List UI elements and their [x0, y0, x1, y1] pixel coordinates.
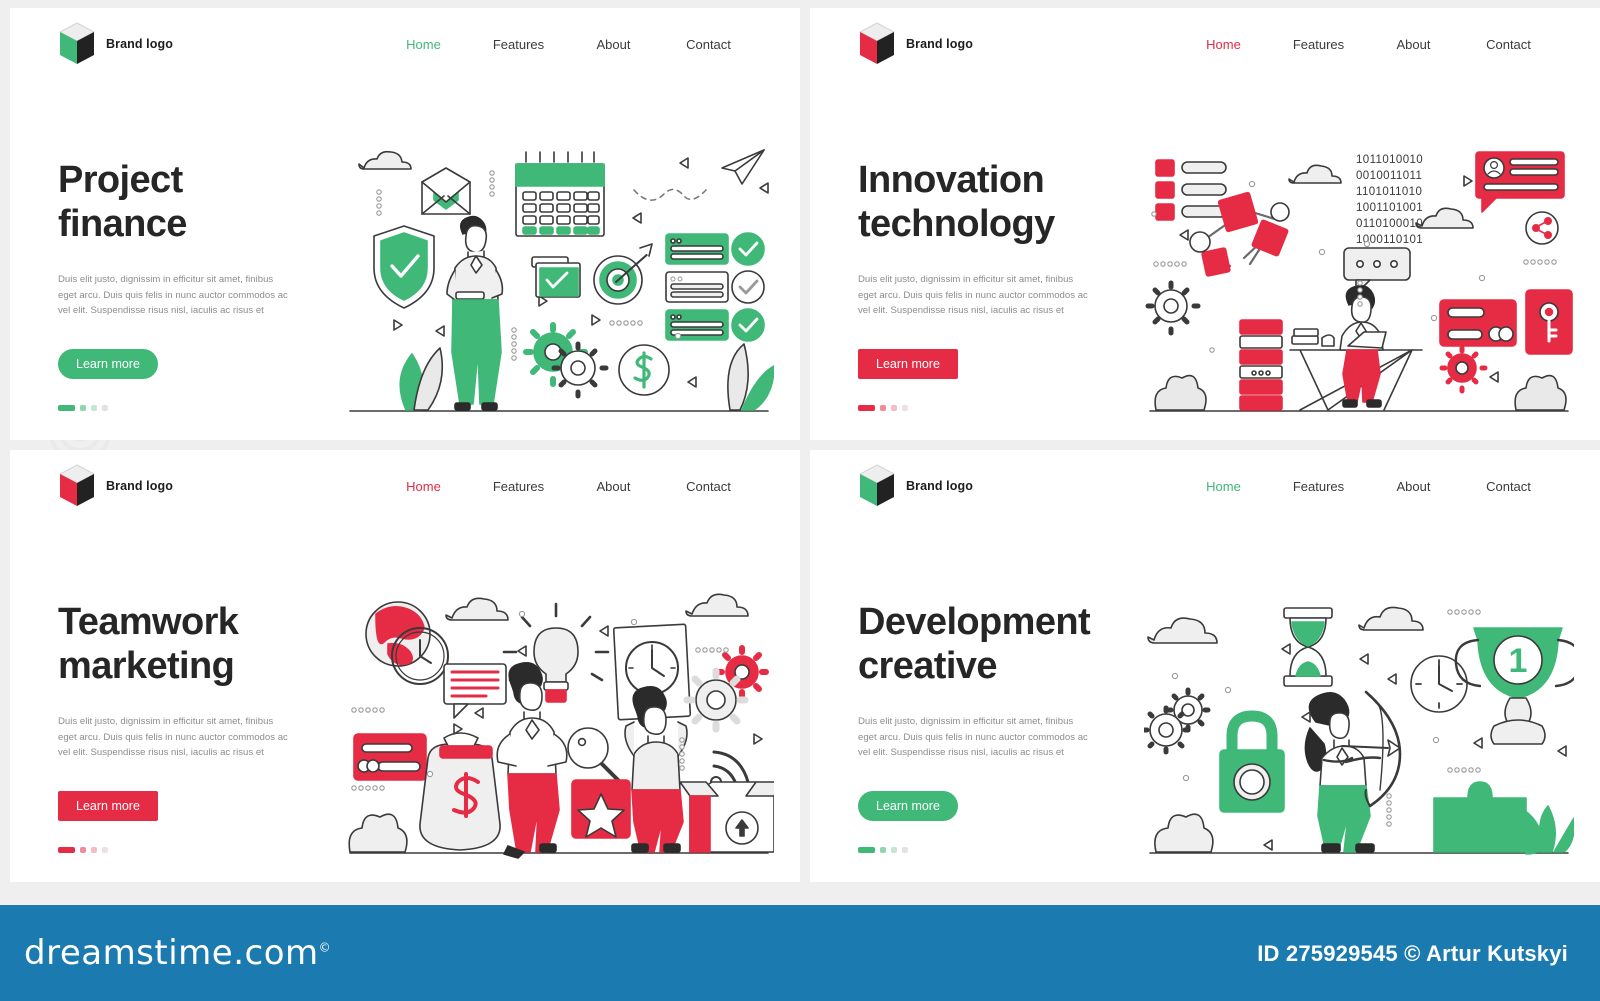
carousel-dot-3[interactable]: [891, 847, 897, 853]
brand-name: Brand logo: [106, 37, 173, 51]
brand[interactable]: Brand logo: [858, 22, 973, 66]
nav-item-contact[interactable]: Contact: [661, 37, 756, 52]
brand-name: Brand logo: [906, 479, 973, 493]
hero-copy: Project finance Duis elit justo, digniss…: [58, 158, 348, 411]
screenshot-stage: Brand logo Home Features About Contact P…: [0, 0, 1600, 1001]
nav-links: Home Features About Contact: [376, 37, 756, 52]
nav-item-home[interactable]: Home: [376, 479, 471, 494]
teamwork-marketing-illustration: [344, 582, 774, 860]
registered-mark: ©: [319, 941, 332, 955]
innovation-technology-illustration: 1011010010 0010011011 1101011010 1001101…: [1144, 140, 1574, 418]
nav-item-home[interactable]: Home: [376, 37, 471, 52]
nav-item-contact[interactable]: Contact: [1461, 37, 1556, 52]
nav-item-home[interactable]: Home: [1176, 37, 1271, 52]
development-creative-illustration: 1: [1144, 582, 1574, 860]
hero-copy: Innovation technology Duis elit justo, d…: [858, 158, 1148, 411]
carousel-dot-1[interactable]: [858, 405, 875, 411]
card-project-finance: Brand logo Home Features About Contact P…: [10, 8, 800, 440]
nav-item-contact[interactable]: Contact: [1461, 479, 1556, 494]
hero-description: Duis elit justo, dignissim in efficitur …: [58, 272, 288, 319]
card-development-creative: Brand logo Home Features About Contact D…: [810, 450, 1600, 882]
carousel-dot-4[interactable]: [102, 847, 108, 853]
nav-item-about[interactable]: About: [1366, 479, 1461, 494]
learn-more-button[interactable]: Learn more: [858, 791, 958, 821]
carousel-dot-4[interactable]: [102, 405, 108, 411]
project-finance-illustration: [344, 140, 774, 418]
dreamstime-wordmark: dreamstime.com: [24, 933, 319, 973]
carousel-dot-4[interactable]: [902, 847, 908, 853]
trophy-rank-number: 1: [1509, 642, 1528, 680]
carousel-dot-4[interactable]: [902, 405, 908, 411]
carousel-dot-3[interactable]: [91, 405, 97, 411]
carousel-dots[interactable]: [858, 847, 1148, 853]
hero-copy: Development creative Duis elit justo, di…: [858, 600, 1148, 853]
card-innovation-technology: Brand logo Home Features About Contact I…: [810, 8, 1600, 440]
carousel-dot-2[interactable]: [880, 847, 886, 853]
brand-cube-icon: [858, 22, 896, 66]
nav-item-about[interactable]: About: [566, 37, 661, 52]
nav-item-contact[interactable]: Contact: [661, 479, 756, 494]
card-teamwork-marketing: Brand logo Home Features About Contact T…: [10, 450, 800, 882]
carousel-dot-3[interactable]: [91, 847, 97, 853]
navbar: Brand logo Home Features About Contact: [10, 8, 800, 80]
binary-line-5: 0110100010: [1356, 218, 1423, 230]
navbar: Brand logo Home Features About Contact: [10, 450, 800, 522]
carousel-dot-1[interactable]: [58, 405, 75, 411]
page-title: Development creative: [858, 600, 1148, 688]
page-title: Project finance: [58, 158, 348, 246]
landing-page-grid: Brand logo Home Features About Contact P…: [0, 0, 1600, 890]
carousel-dots[interactable]: [58, 847, 348, 853]
learn-more-button[interactable]: Learn more: [858, 349, 958, 379]
page-title: Teamwork marketing: [58, 600, 348, 688]
binary-line-1: 1011010010: [1356, 154, 1423, 166]
hero-copy: Teamwork marketing Duis elit justo, dign…: [58, 600, 348, 853]
binary-line-4: 1001101001: [1356, 202, 1423, 214]
learn-more-button[interactable]: Learn more: [58, 349, 158, 379]
stock-footer-bar: dreamstime.com© ID 275929545 © Artur Kut…: [0, 905, 1600, 1001]
carousel-dot-2[interactable]: [80, 847, 86, 853]
brand[interactable]: Brand logo: [58, 22, 173, 66]
navbar: Brand logo Home Features About Contact: [810, 8, 1600, 80]
brand-cube-icon: [58, 22, 96, 66]
dreamstime-logo: dreamstime.com©: [24, 933, 331, 973]
brand[interactable]: Brand logo: [858, 464, 973, 508]
hero-description: Duis elit justo, dignissim in efficitur …: [858, 714, 1088, 761]
nav-item-features[interactable]: Features: [471, 479, 566, 494]
nav-item-features[interactable]: Features: [471, 37, 566, 52]
nav-links: Home Features About Contact: [376, 479, 756, 494]
brand-cube-icon: [858, 464, 896, 508]
brand-cube-icon: [58, 464, 96, 508]
carousel-dots[interactable]: [58, 405, 348, 411]
carousel-dot-1[interactable]: [58, 847, 75, 853]
page-title: Innovation technology: [858, 158, 1148, 246]
nav-item-home[interactable]: Home: [1176, 479, 1271, 494]
image-credit: ID 275929545 © Artur Kutskyi: [1257, 941, 1568, 967]
nav-links: Home Features About Contact: [1176, 479, 1556, 494]
brand-name: Brand logo: [906, 37, 973, 51]
navbar: Brand logo Home Features About Contact: [810, 450, 1600, 522]
nav-item-features[interactable]: Features: [1271, 479, 1366, 494]
carousel-dots[interactable]: [858, 405, 1148, 411]
hero-description: Duis elit justo, dignissim in efficitur …: [858, 272, 1088, 319]
learn-more-button[interactable]: Learn more: [58, 791, 158, 821]
brand-name: Brand logo: [106, 479, 173, 493]
hero-description: Duis elit justo, dignissim in efficitur …: [58, 714, 288, 761]
brand[interactable]: Brand logo: [58, 464, 173, 508]
binary-line-3: 1101011010: [1356, 186, 1422, 198]
carousel-dot-2[interactable]: [80, 405, 86, 411]
nav-item-about[interactable]: About: [1366, 37, 1461, 52]
carousel-dot-2[interactable]: [880, 405, 886, 411]
carousel-dot-3[interactable]: [891, 405, 897, 411]
carousel-dot-1[interactable]: [858, 847, 875, 853]
nav-links: Home Features About Contact: [1176, 37, 1556, 52]
nav-item-about[interactable]: About: [566, 479, 661, 494]
nav-item-features[interactable]: Features: [1271, 37, 1366, 52]
binary-line-2: 0010011011: [1356, 170, 1422, 182]
